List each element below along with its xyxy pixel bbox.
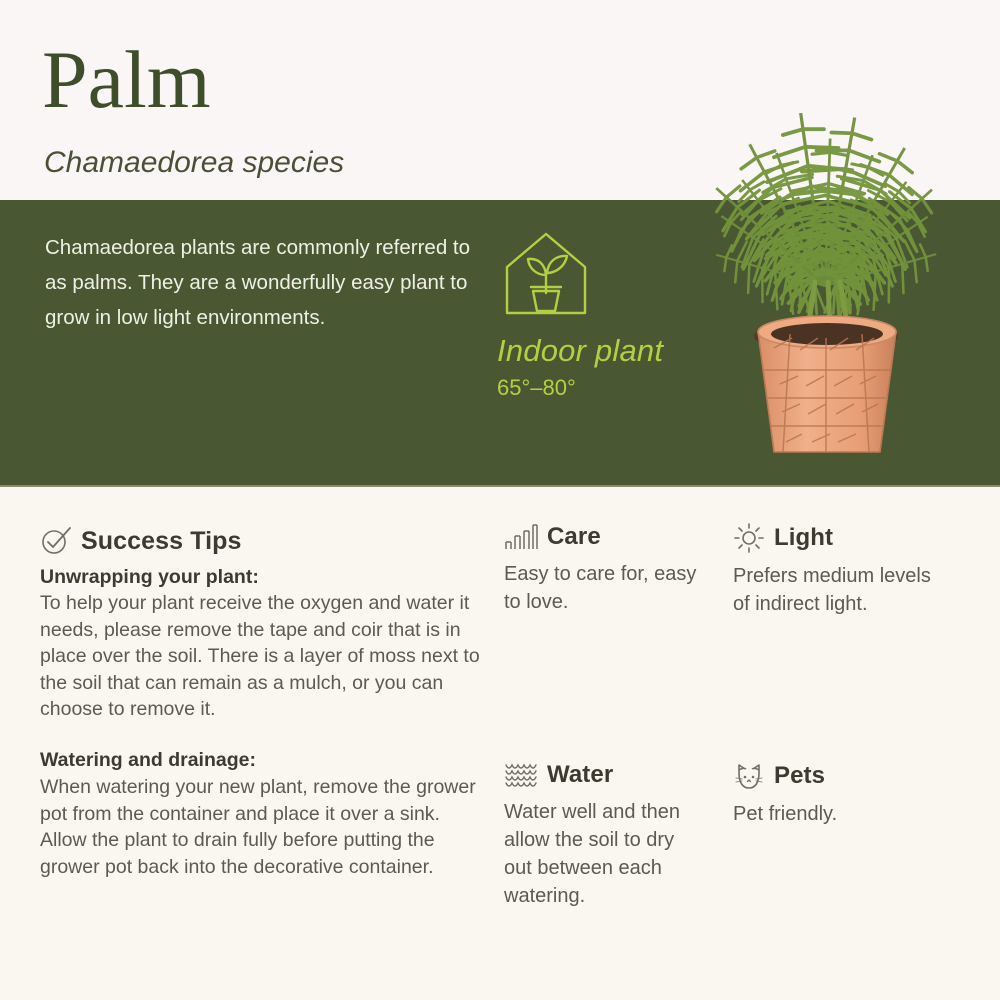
species-subtitle: Chamaedorea species bbox=[44, 146, 344, 180]
light-card: Light Prefers medium levels of indirect … bbox=[733, 523, 953, 618]
care-text: Easy to care for, easy to love. bbox=[504, 560, 704, 616]
waves-icon bbox=[504, 761, 538, 789]
description-band: Chamaedorea plants are commonly referred… bbox=[0, 200, 1000, 487]
pets-title: Pets bbox=[774, 762, 825, 790]
check-circle-icon bbox=[40, 525, 72, 557]
indoor-plant-block: Indoor plant 65°–80° bbox=[497, 225, 727, 401]
pets-card: Pets Pet friendly. bbox=[733, 761, 953, 828]
water-header: Water bbox=[504, 761, 704, 789]
plant-description: Chamaedorea plants are commonly referred… bbox=[45, 230, 475, 335]
tip-watering-subheading: Watering and drainage: bbox=[40, 747, 480, 774]
light-text: Prefers medium levels of indirect light. bbox=[733, 562, 953, 618]
plant-care-infographic: Palm Chamaedorea species Chamaedorea pla… bbox=[0, 0, 1000, 1000]
tip-watering: Watering and drainage: When watering you… bbox=[40, 747, 480, 881]
care-details-section: Success Tips Unwrapping your plant: To h… bbox=[0, 489, 1000, 1000]
pets-text: Pet friendly. bbox=[733, 800, 953, 828]
success-tips-title: Success Tips bbox=[81, 527, 242, 556]
water-card: Water Water well and then allow the soil… bbox=[504, 761, 704, 910]
tip-unwrapping: Unwrapping your plant: To help your plan… bbox=[40, 566, 480, 723]
tip-unwrapping-text: To help your plant receive the oxygen an… bbox=[40, 590, 480, 723]
light-header: Light bbox=[733, 523, 953, 553]
page-title: Palm bbox=[42, 36, 211, 124]
bars-icon bbox=[504, 524, 538, 550]
care-header: Care bbox=[504, 523, 704, 551]
tip-watering-text: When watering your new plant, remove the… bbox=[40, 774, 480, 880]
success-tips-column: Success Tips Unwrapping your plant: To h… bbox=[40, 525, 480, 880]
cat-icon bbox=[733, 761, 765, 791]
success-tips-header: Success Tips bbox=[40, 525, 480, 557]
house-plant-icon bbox=[497, 225, 595, 323]
tip-unwrapping-subheading: Unwrapping your plant: bbox=[40, 566, 480, 589]
water-text: Water well and then allow the soil to dr… bbox=[504, 798, 704, 910]
header: Palm Chamaedorea species bbox=[0, 0, 1000, 200]
care-card: Care Easy to care for, easy to love. bbox=[504, 523, 704, 616]
light-title: Light bbox=[774, 524, 833, 552]
sun-icon bbox=[733, 523, 765, 553]
pets-header: Pets bbox=[733, 761, 953, 791]
temperature-range: 65°–80° bbox=[497, 375, 727, 401]
indoor-plant-label: Indoor plant bbox=[497, 333, 727, 369]
water-title: Water bbox=[547, 761, 613, 789]
care-title: Care bbox=[547, 523, 601, 551]
